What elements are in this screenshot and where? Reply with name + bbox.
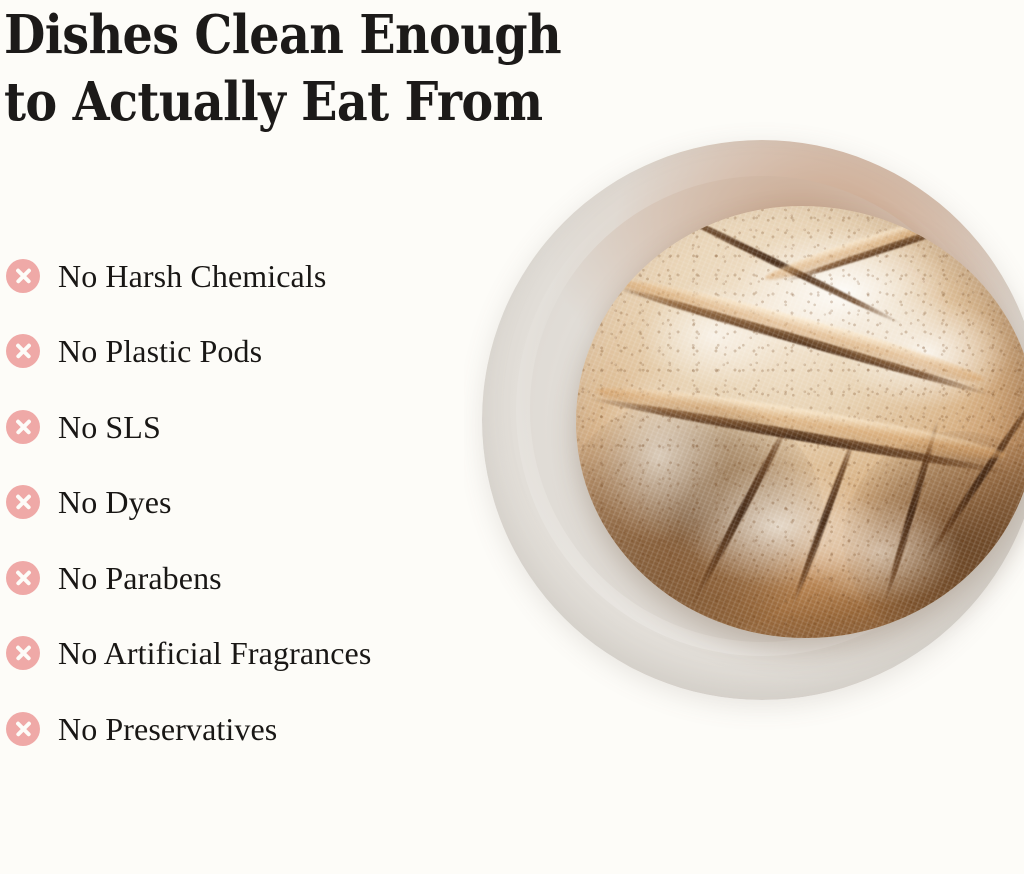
benefit-label: No SLS bbox=[58, 410, 161, 444]
x-circle-icon bbox=[6, 636, 40, 670]
list-item: No Dyes bbox=[6, 465, 526, 541]
list-item: No Parabens bbox=[6, 540, 526, 616]
headline-line-2: to Actually Eat From bbox=[4, 69, 706, 136]
page-title: Dishes Clean Enough to Actually Eat From bbox=[4, 2, 784, 136]
list-item: No Plastic Pods bbox=[6, 314, 526, 390]
benefit-label: No Preservatives bbox=[58, 712, 277, 746]
x-circle-icon bbox=[6, 259, 40, 293]
flour-grain-overlay bbox=[576, 206, 1024, 638]
x-circle-icon bbox=[6, 712, 40, 746]
headline-line-1: Dishes Clean Enough bbox=[4, 2, 706, 69]
benefit-label: No Artificial Fragrances bbox=[58, 636, 371, 670]
benefit-label: No Harsh Chemicals bbox=[58, 259, 326, 293]
benefit-label: No Dyes bbox=[58, 485, 172, 519]
list-item: No Artificial Fragrances bbox=[6, 616, 526, 692]
list-item: No SLS bbox=[6, 389, 526, 465]
x-circle-icon bbox=[6, 561, 40, 595]
sourdough-loaf bbox=[576, 206, 1024, 638]
list-item: No Harsh Chemicals bbox=[6, 238, 526, 314]
x-circle-icon bbox=[6, 485, 40, 519]
benefit-label: No Plastic Pods bbox=[58, 334, 262, 368]
benefit-label: No Parabens bbox=[58, 561, 222, 595]
x-circle-icon bbox=[6, 410, 40, 444]
list-item: No Preservatives bbox=[6, 691, 526, 767]
x-circle-icon bbox=[6, 334, 40, 368]
benefits-list: No Harsh Chemicals No Plastic Pods No SL… bbox=[6, 238, 526, 767]
promo-graphic: Dishes Clean Enough to Actually Eat From… bbox=[0, 0, 1024, 874]
